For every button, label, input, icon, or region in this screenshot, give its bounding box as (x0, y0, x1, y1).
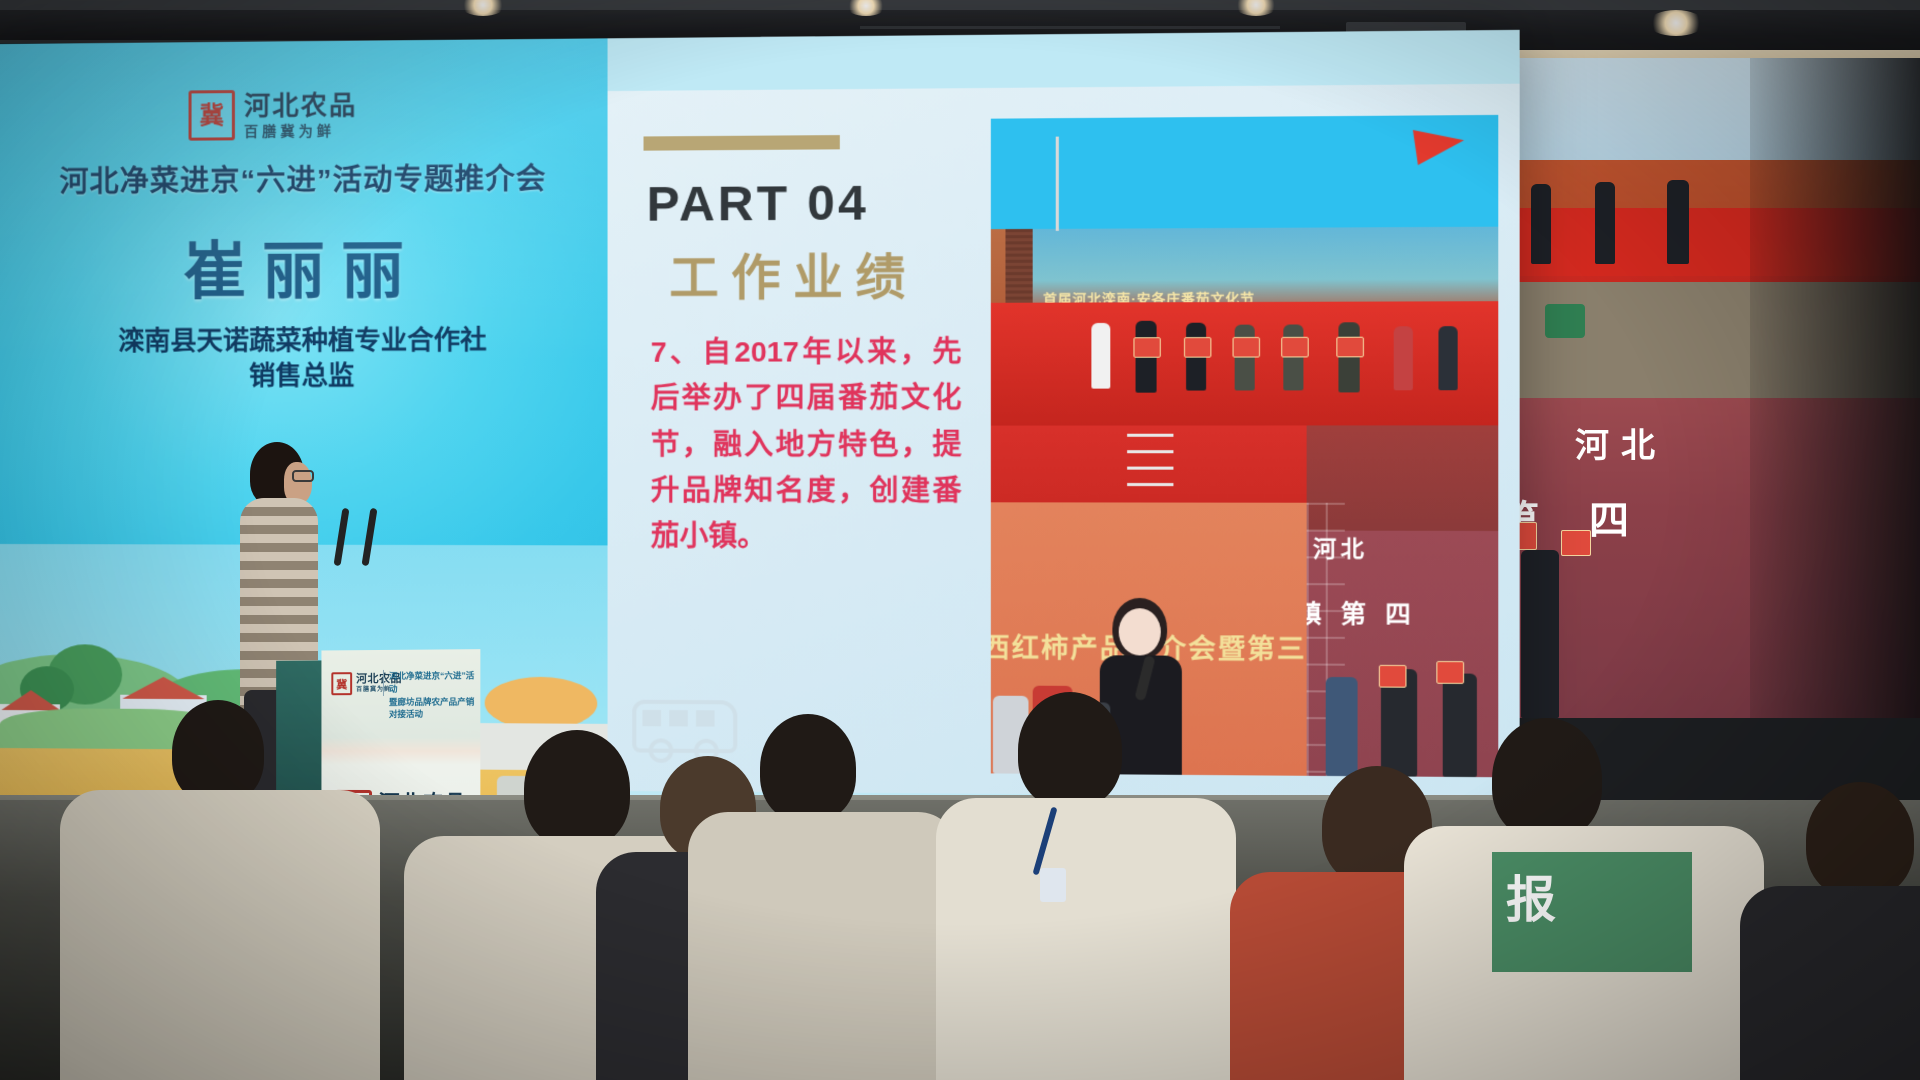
speaker-head (1112, 598, 1167, 660)
bus-window (642, 710, 661, 726)
audience-body-5 (936, 798, 1236, 1080)
collage-banner-text-3a: 河北 (1313, 531, 1368, 564)
ceiling-light (1648, 10, 1704, 36)
person-figure (1091, 323, 1110, 389)
bus-wheel (649, 738, 674, 763)
audience-body-4 (688, 812, 958, 1080)
person-figure (1667, 180, 1689, 264)
podium-caption: 河北净菜进京“六进”活动 暨廊坊品牌农产品产销对接活动 (389, 669, 480, 721)
certificate (1436, 661, 1464, 684)
certificate (1379, 665, 1407, 688)
illus-hill (0, 654, 191, 746)
ceiling-light (846, 0, 886, 16)
illus-roof (0, 690, 68, 710)
audience-body-1 (60, 790, 380, 1080)
brand-name: 河北农品 (244, 92, 357, 119)
flag-pole (1056, 137, 1059, 231)
person-figure (1394, 326, 1413, 390)
slide-part-label: PART 04 (647, 176, 869, 233)
certificate (1336, 337, 1364, 358)
flag-icon (1413, 130, 1464, 165)
person-figure (1438, 326, 1457, 390)
speaker-org: 滦南县天诺蔬菜种植专业合作社 销售总监 (0, 322, 608, 394)
person-figure (1531, 184, 1551, 264)
collage-banner-text-3b: 镇 第 四 (1307, 594, 1418, 631)
person-figure (1443, 673, 1477, 777)
seal-icon: 冀 (331, 672, 352, 695)
ceiling-light (460, 0, 506, 16)
ceiling-strip (0, 0, 1920, 10)
podium-caption-line-1: 河北净菜进京“六进”活动 (389, 669, 480, 695)
glasses-icon (292, 470, 314, 482)
audience-head-7 (1492, 718, 1602, 840)
illus-tree (20, 666, 74, 712)
photo-scene: 河北 镇 第 四 冀 河北农品 百膳冀为鲜 河北净菜进京“六 (0, 0, 1920, 1080)
audience-body-8 (1740, 886, 1920, 1080)
speaker-role: 销售总监 (0, 358, 608, 394)
ceiling-light (1234, 0, 1278, 16)
ladder (1127, 434, 1173, 498)
illus-tree (48, 644, 122, 705)
slide-section-title: 工作业绩 (669, 237, 918, 309)
meeting-title: 河北净菜进京“六进”活动专题推介会 (0, 155, 608, 201)
speaker-face (1119, 608, 1161, 655)
badge (1040, 868, 1066, 902)
bus-body (632, 700, 737, 754)
audience-head-2 (524, 730, 630, 848)
audience-head-5 (1018, 692, 1122, 808)
ceiling-seam (860, 26, 1280, 29)
photo-collage: 首届河北滦南·安各庄番茄文化节 (991, 115, 1498, 777)
podium-divider (383, 670, 384, 696)
green-bucket (1545, 304, 1585, 338)
speaker-org-line: 滦南县天诺蔬菜种植专业合作社 (0, 322, 608, 359)
lower-display-text: 报 (1506, 860, 1556, 932)
person-figure (1595, 182, 1615, 264)
brand-logo: 冀 河北农品 百膳冀为鲜 (189, 89, 358, 141)
audience-head-4 (760, 714, 856, 822)
seal-icon: 冀 (189, 90, 235, 141)
certificate (1133, 337, 1160, 358)
illus-house (0, 704, 60, 748)
certificate (1561, 530, 1591, 556)
gold-rule (644, 135, 840, 151)
audience-head-1 (172, 700, 264, 804)
certificate (1233, 337, 1260, 358)
person-figure (1326, 677, 1358, 776)
slide-content-card: PART 04 工作业绩 7、自2017年以来，先后举办了四届番茄文化节，融入地… (608, 84, 1520, 798)
person-figure (1521, 550, 1559, 718)
wall-shadow (1750, 58, 1920, 718)
collage-photo-certificate-award: 河北 镇 第 四 (1307, 425, 1499, 777)
illus-soy-bowl (485, 677, 598, 730)
illus-roof (112, 677, 215, 700)
slide-body-text: 7、自2017年以来，先后举办了四届番茄文化节，融入地方特色，提升品牌知名度，创… (651, 328, 962, 560)
certificate (1281, 337, 1309, 358)
certificate (1184, 337, 1211, 358)
bus-window (669, 710, 688, 726)
right-banner-text-1: 河北 (1575, 418, 1667, 467)
audience-head-8 (1806, 782, 1914, 898)
speaker-name: 崔丽丽 (0, 219, 608, 312)
collage-photo-award-ceremony: 首届河北滦南·安各庄番茄文化节 (991, 115, 1498, 426)
illus-window (136, 715, 158, 735)
brand-slogan: 百膳冀为鲜 (244, 123, 357, 138)
bus-window (696, 710, 715, 726)
bus-icon (626, 696, 734, 764)
podium-caption-line-2: 暨廊坊品牌农产品产销对接活动 (389, 695, 480, 721)
